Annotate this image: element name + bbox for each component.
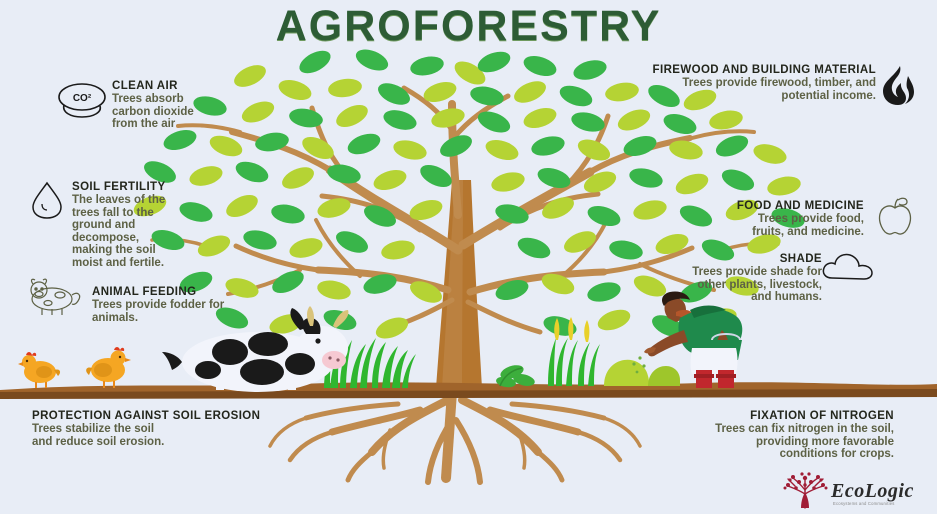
chicken-left [18,352,60,388]
animal-feeding-line2: animals. [92,312,307,325]
shade-line1: Trees provide shade for [590,266,822,279]
clean-air-line1: Trees absorb [112,93,272,106]
water-drop-icon [30,180,64,225]
ecologic-logo-tagline: Ecosystems and Communities [833,501,895,506]
soil-erosion-heading: PROTECTION AGAINST SOIL EROSION [32,410,332,423]
info-block-animal-feeding: ANIMAL FEEDING Trees provide fodder for … [92,286,307,324]
info-block-clean-air: CLEAN AIR Trees absorb carbon dioxide fr… [112,80,272,131]
clean-air-heading: CLEAN AIR [112,80,272,93]
ground-line [0,382,937,399]
soil-fertility-line2: trees fall to the [72,207,222,220]
soil-fertility-line6: moist and fertile. [72,257,222,270]
soil-fertility-line4: decompose, [72,232,222,245]
farmer-sowing [632,291,742,388]
info-block-soil-fertility: SOIL FERTILITY The leaves of the trees f… [72,181,222,270]
soil-fertility-heading: SOIL FERTILITY [72,181,222,194]
co2-icon-label: CO² [73,93,92,104]
ecologic-logo-name: EcoLogic [831,480,914,503]
ecologic-logo: EcoLogic Ecosystems and Communities [779,468,929,512]
soil-erosion-line1: Trees stabilize the soil [32,423,332,436]
food-medicine-line1: Trees provide food, [664,213,864,226]
soil-fertility-line1: The leaves of the [72,194,222,207]
soil-erosion-line2: and reduce soil erosion. [32,436,332,449]
info-block-shade: SHADE Trees provide shade for other plan… [590,253,822,304]
firewood-line1: Trees provide firewood, timber, and [556,77,876,90]
shade-heading: SHADE [590,253,822,266]
firewood-line2: potential income. [556,90,876,103]
animal-feeding-heading: ANIMAL FEEDING [92,286,307,299]
flame-icon [880,64,916,111]
firewood-heading: FIREWOOD AND BUILDING MATERIAL [556,64,876,77]
apple-icon [874,196,916,243]
info-block-nitrogen: FIXATION OF NITROGEN Trees can fix nitro… [594,410,894,461]
nitrogen-line3: conditions for crops. [594,448,894,461]
info-block-firewood: FIREWOOD AND BUILDING MATERIAL Trees pro… [556,64,876,102]
soil-fertility-line3: ground and [72,219,222,232]
clean-air-line3: from the air [112,118,272,131]
chicken-right [86,347,131,388]
clean-air-line2: carbon dioxide [112,106,272,119]
cow-outline-icon [26,277,88,322]
shade-line3: and humans. [590,291,822,304]
ecologic-tree-icon [779,468,837,510]
food-medicine-heading: FOOD AND MEDICINE [664,200,864,213]
info-block-food-medicine: FOOD AND MEDICINE Trees provide food, fr… [664,200,864,238]
food-medicine-line2: fruits, and medicine. [664,226,864,239]
nitrogen-line1: Trees can fix nitrogen in the soil, [594,423,894,436]
infographic-canvas: AGROFORESTRY [0,0,937,514]
animal-feeding-line1: Trees provide fodder for [92,299,307,312]
soil-fertility-line5: making the soil [72,244,222,257]
co2-cloud-icon: CO² [56,79,108,126]
cloud-icon [820,250,876,289]
nitrogen-line2: providing more favorable [594,436,894,449]
nitrogen-heading: FIXATION OF NITROGEN [594,410,894,423]
shade-line2: other plants, livestock, [590,279,822,292]
info-block-soil-erosion: PROTECTION AGAINST SOIL EROSION Trees st… [32,410,332,448]
